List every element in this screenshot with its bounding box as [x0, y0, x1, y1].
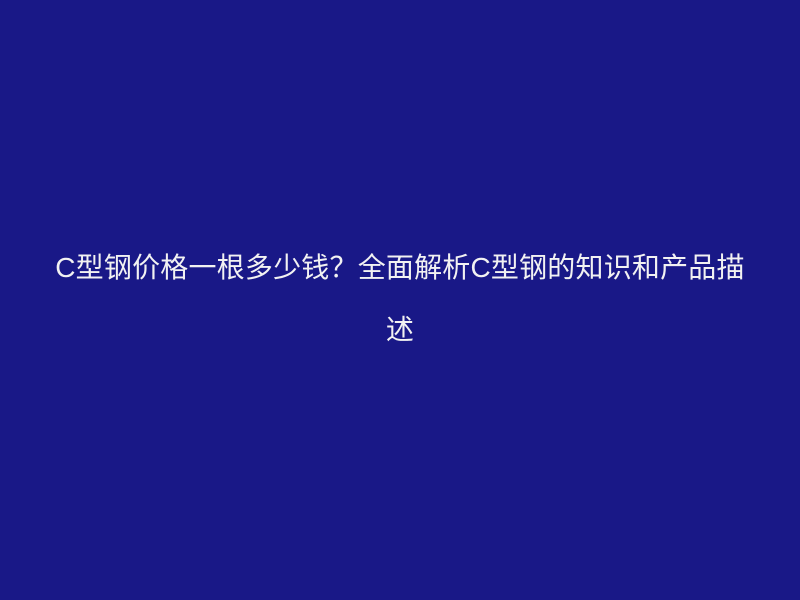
title-card: C型钢价格一根多少钱？全面解析C型钢的知识和产品描述: [0, 0, 800, 600]
page-title: C型钢价格一根多少钱？全面解析C型钢的知识和产品描述: [50, 237, 750, 361]
title-block: C型钢价格一根多少钱？全面解析C型钢的知识和产品描述: [50, 218, 750, 380]
